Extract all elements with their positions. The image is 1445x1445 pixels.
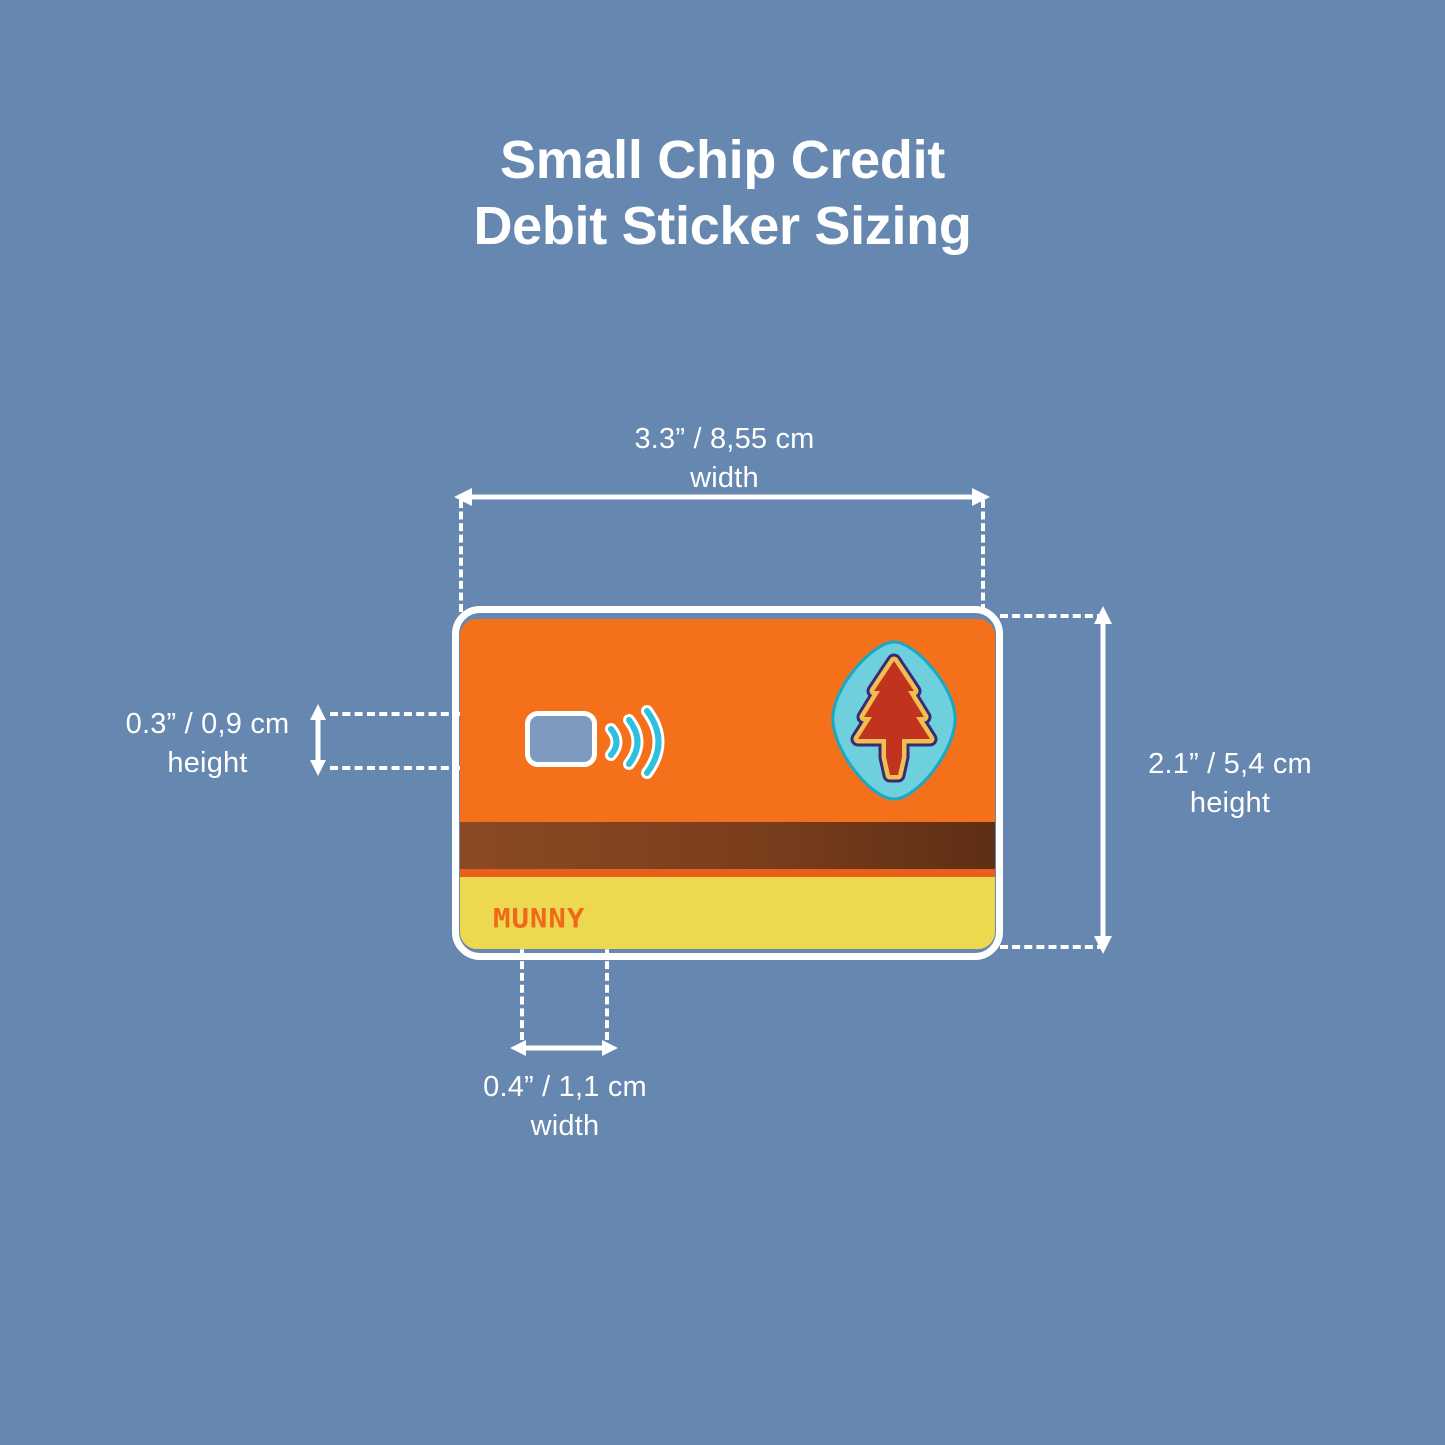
- card-height-arrow: [1088, 604, 1118, 956]
- page-title-line-2: Debit Sticker Sizing: [0, 194, 1445, 260]
- page-title: Small Chip Credit Debit Sticker Sizing: [0, 128, 1445, 260]
- chip-height-value: 0.3” / 0,9 cm: [126, 708, 290, 740]
- card-width-arrow: [452, 482, 992, 512]
- stripe-accent-line: [460, 869, 995, 877]
- page-title-line-1: Small Chip Credit: [500, 130, 945, 190]
- extension-line-card-right: [981, 500, 985, 612]
- extension-line-card-left: [459, 500, 463, 612]
- magnetic-stripe: [460, 822, 995, 869]
- card-brand-wordmark: munny: [493, 896, 585, 934]
- card-height-axis: height: [1085, 784, 1375, 823]
- chip-width-arrow: [508, 1033, 620, 1063]
- chip-width-label: 0.4” / 1,1 cm width: [420, 1068, 710, 1145]
- card-height-value: 2.1” / 5,4 cm: [1148, 748, 1312, 780]
- emv-chip-icon: [525, 711, 597, 767]
- contactless-waves-icon: [603, 703, 673, 781]
- chip-width-value: 0.4” / 1,1 cm: [483, 1071, 647, 1103]
- chip-height-arrow: [303, 702, 333, 778]
- sizing-diagram-canvas: Small Chip Credit Debit Sticker Sizing 3…: [0, 0, 1445, 1445]
- chip-width-axis: width: [420, 1107, 710, 1146]
- credit-card-sticker[interactable]: munny: [460, 619, 995, 949]
- maple-leaf-emblem-icon: [830, 639, 958, 802]
- card-height-label: 2.1” / 5,4 cm height: [1085, 745, 1375, 822]
- card-width-value: 3.3” / 8,55 cm: [634, 423, 814, 455]
